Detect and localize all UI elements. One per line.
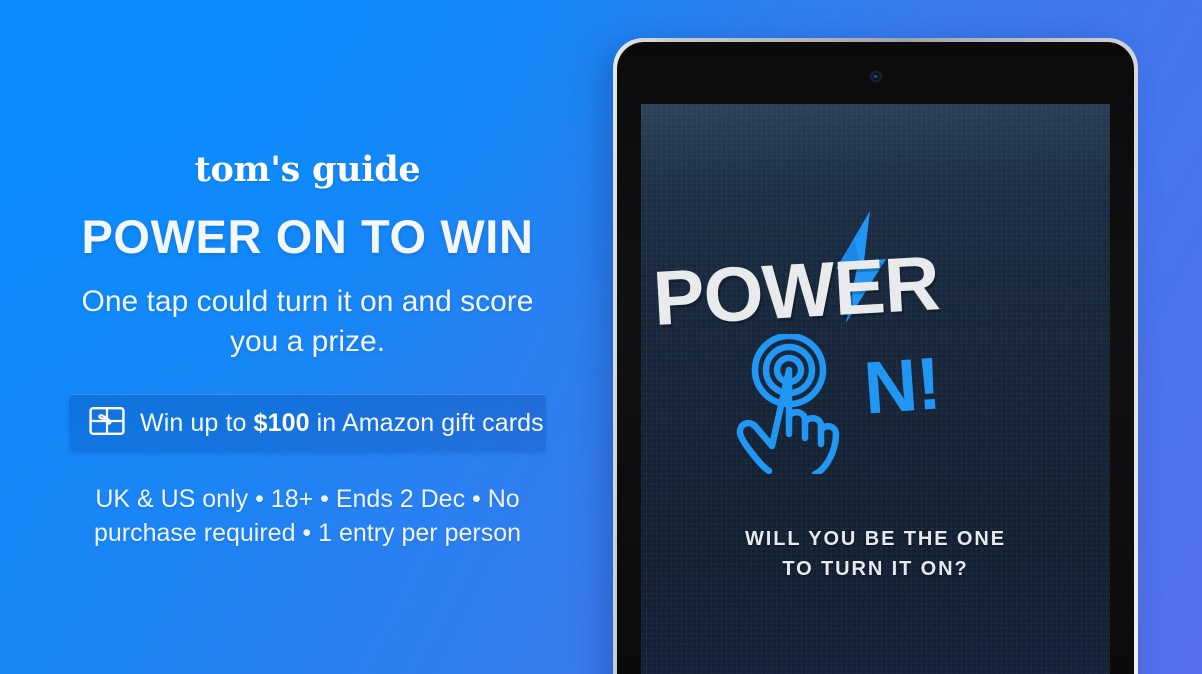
- tap-hand-icon: [727, 334, 849, 479]
- screen-word-power: POWER: [651, 235, 1110, 338]
- power-on-artwork: POWER N!: [641, 216, 1110, 466]
- gift-card-icon: [89, 406, 125, 441]
- tablet-device: POWER N!: [613, 38, 1138, 674]
- tablet-bezel: POWER N!: [617, 42, 1134, 674]
- promo-subheadline: One tap could turn it on and score you a…: [68, 282, 548, 362]
- screen-word-on: N!: [862, 346, 943, 425]
- front-camera-dot: [871, 72, 880, 81]
- prize-badge: Win up to $100 in Amazon gift cards: [69, 394, 546, 452]
- caption-line-1: WILL YOU BE THE ONE: [641, 524, 1110, 554]
- page-title: POWER ON TO WIN: [81, 213, 533, 260]
- caption-line-2: TO TURN IT ON?: [641, 554, 1110, 584]
- promo-banner: tom's guide POWER ON TO WIN One tap coul…: [0, 0, 1202, 674]
- screen-caption: WILL YOU BE THE ONE TO TURN IT ON?: [641, 524, 1110, 584]
- badge-amount: $100: [254, 409, 310, 437]
- toms-guide-logo: tom's guide: [195, 152, 421, 187]
- terms-fine-print: UK & US only • 18+ • Ends 2 Dec • No pur…: [73, 482, 543, 550]
- tablet-screen: POWER N!: [641, 104, 1110, 674]
- promo-left-panel: tom's guide POWER ON TO WIN One tap coul…: [0, 0, 615, 674]
- prize-badge-label: Win up to $100 in Amazon gift cards: [140, 409, 544, 438]
- badge-suffix: in Amazon gift cards: [310, 409, 544, 437]
- badge-prefix: Win up to: [140, 409, 254, 437]
